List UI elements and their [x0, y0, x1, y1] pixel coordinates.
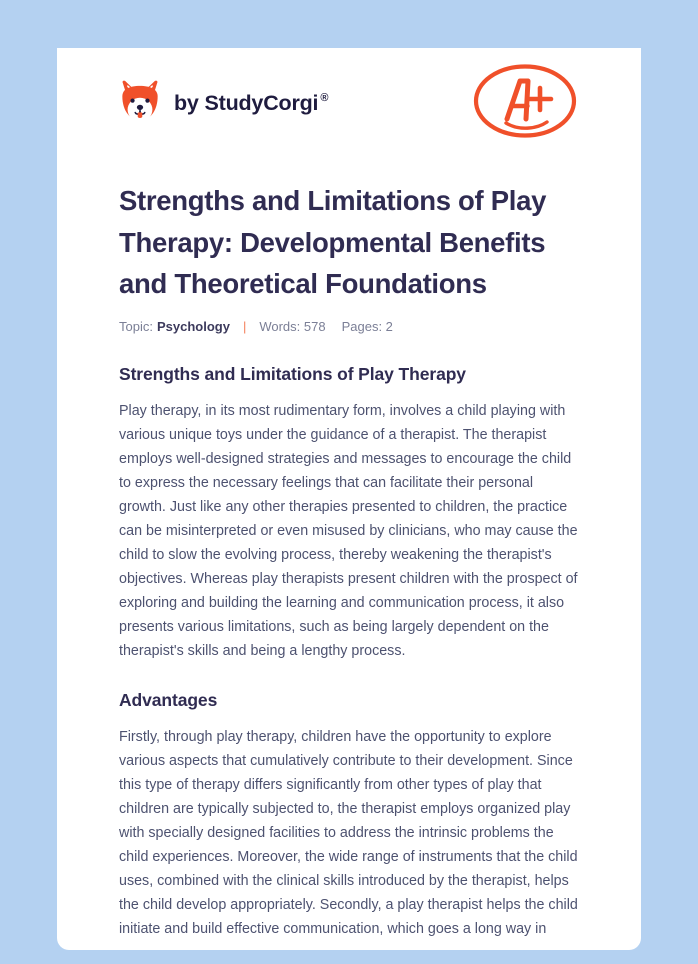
page-count: Pages: 2 [342, 319, 393, 334]
page-title: Strengths and Limitations of Play Therap… [119, 152, 579, 305]
topic-label: Topic: [119, 319, 153, 334]
document-meta: Topic: Psychology | Words: 578 Pages: 2 [119, 319, 579, 334]
topic-value-link[interactable]: Psychology [157, 319, 230, 334]
page-content: by StudyCorgi® Strengths and Limitations… [57, 48, 641, 941]
registered-trademark-icon: ® [320, 92, 328, 104]
word-count: Words: 578 [259, 319, 325, 334]
meta-separator: | [243, 319, 246, 334]
section-heading-strengths: Strengths and Limitations of Play Therap… [119, 334, 579, 385]
studycorgi-brand[interactable]: by StudyCorgi® [119, 80, 328, 126]
document-header: by StudyCorgi® [119, 48, 579, 152]
a-plus-grade-icon [471, 61, 579, 145]
corgi-dog-face-icon [119, 80, 161, 126]
brand-wordmark: by StudyCorgi® [174, 91, 328, 116]
brand-name: StudyCorgi [204, 91, 318, 115]
document-page: by StudyCorgi® Strengths and Limitations… [57, 48, 641, 950]
section-paragraph: Play therapy, in its most rudimentary fo… [119, 385, 579, 663]
brand-prefix: by [174, 91, 204, 115]
section-paragraph: Firstly, through play therapy, children … [119, 711, 579, 941]
section-heading-advantages: Advantages [119, 663, 579, 711]
